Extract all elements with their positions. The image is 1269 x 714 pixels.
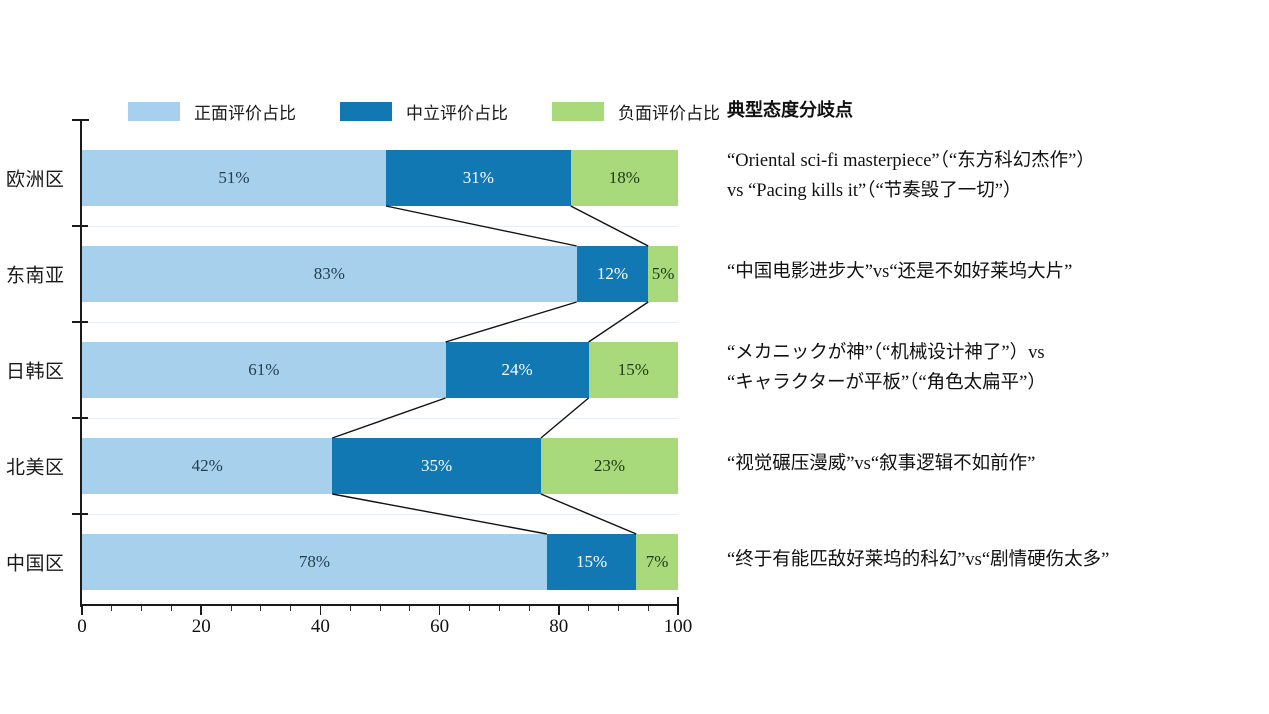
bar-value-label-3-neg: 23% [594,456,625,476]
bar-value-label-0-neu: 31% [463,168,494,188]
bar-value-label-2-neg: 15% [618,360,649,380]
bar-segment-3-neg: 23% [541,438,678,494]
x-tick-minor-55 [409,606,410,611]
panel-note-3: “视觉碾压漫威”vs“叙事逻辑不如前作” [727,449,1263,479]
x-tick-label-80: 80 [549,616,568,638]
bar-value-label-2-pos: 61% [248,360,279,380]
bar-row-2: 61%24%15% [82,342,678,398]
panel-note-line-2-1: “キャラクターが平板”（“角色太扁平”） [727,368,1263,398]
x-tick-minor-65 [469,606,470,611]
bar-value-label-3-neu: 35% [421,456,452,476]
bar-segment-2-pos: 61% [82,342,446,398]
bar-value-label-2-neu: 24% [501,360,532,380]
panel-note-0: “Oriental sci-fi masterpiece”（“东方科幻杰作”）v… [727,146,1263,206]
x-tick-minor-10 [141,606,142,611]
x-tick-major-20 [200,606,202,615]
gridline-2 [82,322,678,323]
panel-note-line-4-0: “终于有能匹敌好莱坞的科幻”vs“剧情硬伤太多” [727,545,1263,575]
bar-segment-2-neg: 15% [589,342,678,398]
x-tick-major-60 [439,606,441,615]
x-tick-minor-30 [260,606,261,611]
bar-segment-1-neu: 12% [577,246,649,302]
bar-segment-4-neu: 15% [547,534,636,590]
bar-segment-1-neg: 5% [648,246,678,302]
x-tick-minor-70 [499,606,500,611]
stacked-bar-chart: 欧洲区东南亚日韩区北美区中国区 51%31%18%83%12%5%61%24%1… [0,0,712,714]
x-tick-minor-85 [588,606,589,611]
x-tick-minor-95 [648,606,649,611]
bar-segment-0-pos: 51% [82,150,386,206]
y-tick-3 [72,417,88,419]
panel-note-line-0-0: “Oriental sci-fi masterpiece”（“东方科幻杰作”） [727,146,1263,176]
x-tick-minor-5 [111,606,112,611]
panel-note-1: “中国电影进步大”vs“还是不如好莱坞大片” [727,257,1263,287]
x-tick-minor-90 [618,606,619,611]
bar-value-label-4-neu: 15% [576,552,607,572]
attitude-divergence-panel: 典型态度分歧点 “Oriental sci-fi masterpiece”（“东… [727,0,1269,714]
panel-note-4: “终于有能匹敌好莱坞的科幻”vs“剧情硬伤太多” [727,545,1263,575]
bar-row-4: 78%15%7% [82,534,678,590]
x-tick-label-0: 0 [77,616,87,638]
panel-note-2: “メカニックが神”（“机械设计神了”）vs“キャラクターが平板”（“角色太扁平”… [727,338,1263,398]
panel-note-line-3-0: “视觉碾压漫威”vs“叙事逻辑不如前作” [727,449,1263,479]
bar-segment-0-neu: 31% [386,150,571,206]
bar-segment-2-neu: 24% [446,342,589,398]
x-tick-major-0 [81,606,83,615]
x-tick-major-80 [558,606,560,615]
y-tick-1 [72,225,88,227]
gridline-4 [82,514,678,515]
bar-value-label-1-neu: 12% [597,264,628,284]
category-label-3: 北美区 [6,453,74,480]
category-label-1: 东南亚 [6,261,74,288]
bar-row-1: 83%12%5% [82,246,678,302]
x-tick-label-20: 20 [192,616,211,638]
bar-segment-4-pos: 78% [82,534,547,590]
bar-segment-4-neg: 7% [636,534,678,590]
y-axis-top-cap [72,119,89,121]
x-tick-major-40 [320,606,322,615]
bar-segment-0-neg: 18% [571,150,678,206]
category-label-2: 日韩区 [6,357,74,384]
x-tick-minor-15 [171,606,172,611]
x-tick-minor-45 [350,606,351,611]
x-tick-major-100 [677,606,679,615]
y-tick-4 [72,513,88,515]
bar-segment-3-neu: 35% [332,438,541,494]
panel-title: 典型态度分歧点 [727,96,853,122]
bar-segment-1-pos: 83% [82,246,577,302]
bar-value-label-1-pos: 83% [314,264,345,284]
bar-value-label-4-neg: 7% [646,552,669,572]
gridline-3 [82,418,678,419]
bar-value-label-0-neg: 18% [609,168,640,188]
panel-note-line-2-0: “メカニックが神”（“机械设计神了”）vs [727,338,1263,368]
bar-row-3: 42%35%23% [82,438,678,494]
x-tick-label-100: 100 [664,616,693,638]
x-tick-label-40: 40 [311,616,330,638]
slide-root: 正面评价占比中立评价占比负面评价占比 欧洲区东南亚日韩区北美区中国区 51%31… [0,0,1269,714]
y-tick-2 [72,321,88,323]
x-tick-minor-35 [290,606,291,611]
bar-value-label-1-neg: 5% [652,264,675,284]
bar-value-label-0-pos: 51% [218,168,249,188]
category-label-0: 欧洲区 [6,165,74,192]
x-tick-label-60: 60 [430,616,449,638]
bar-row-0: 51%31%18% [82,150,678,206]
x-tick-minor-50 [380,606,381,611]
panel-note-line-1-0: “中国电影进步大”vs“还是不如好莱坞大片” [727,257,1263,287]
bar-value-label-3-pos: 42% [192,456,223,476]
x-tick-minor-75 [529,606,530,611]
bar-value-label-4-pos: 78% [299,552,330,572]
bar-segment-3-pos: 42% [82,438,332,494]
gridline-1 [82,226,678,227]
category-label-4: 中国区 [6,549,74,576]
panel-note-line-0-1: vs “Pacing kills it”（“节奏毁了一切”） [727,176,1263,206]
x-tick-minor-25 [231,606,232,611]
